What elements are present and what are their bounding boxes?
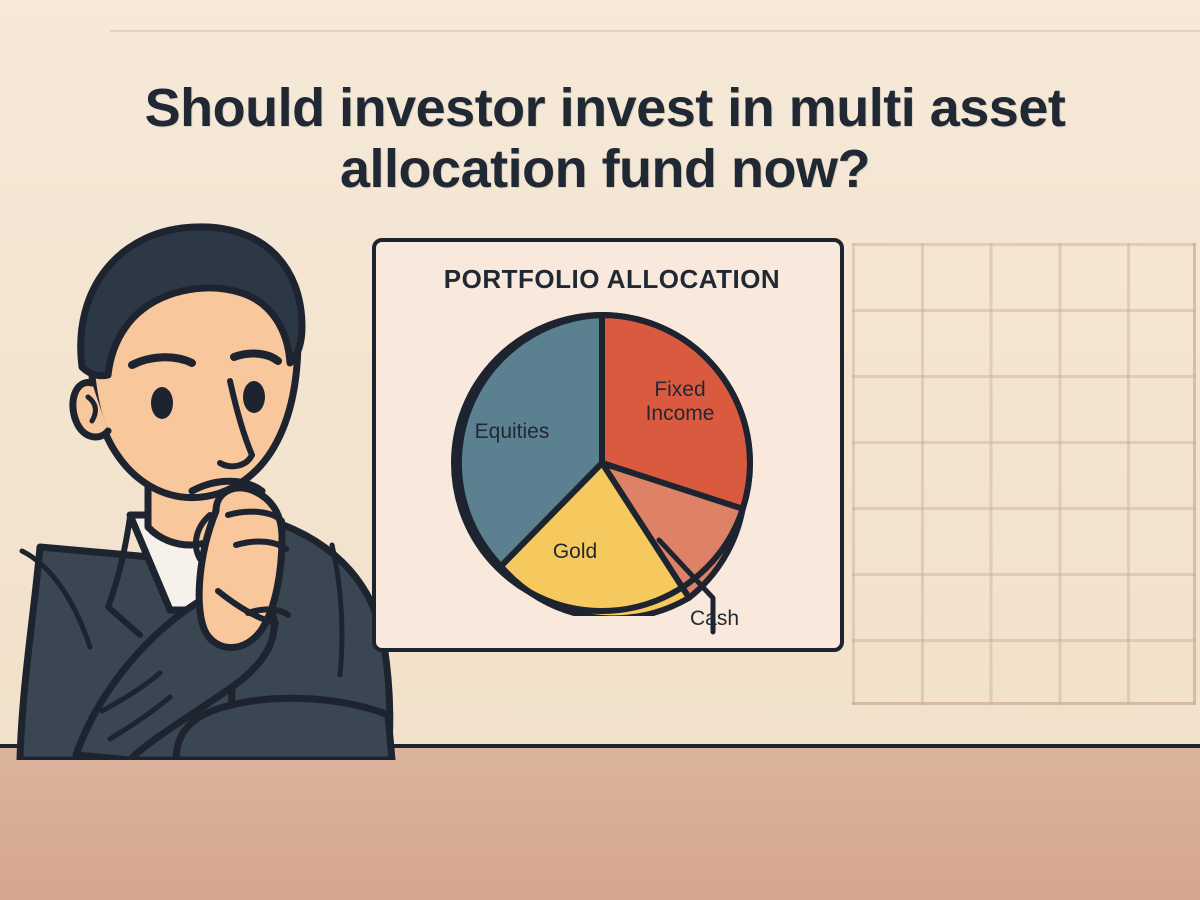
headline-line-1: Should investor invest in multi asset [100, 78, 1110, 139]
page-title: Should investor invest in multi asset al… [100, 78, 1110, 200]
eye-right [243, 381, 265, 413]
eye-left [151, 387, 173, 419]
pie-label-equities: Equities [447, 420, 577, 444]
wall-seam-line [110, 30, 1200, 32]
pie-label-gold: Gold [525, 540, 625, 564]
pie-label-fixed-income: Fixed Income [620, 378, 740, 425]
wall-grid-board [852, 243, 1196, 705]
chart-title: PORTFOLIO ALLOCATION [376, 264, 848, 295]
headline-line-2: allocation fund now? [100, 139, 1110, 200]
desk-surface [0, 748, 1200, 900]
infographic-canvas: Should investor invest in multi asset al… [0, 0, 1200, 900]
chart-card: PORTFOLIO ALLOCATION [372, 238, 844, 652]
pie-label-cash: Cash [690, 607, 790, 631]
